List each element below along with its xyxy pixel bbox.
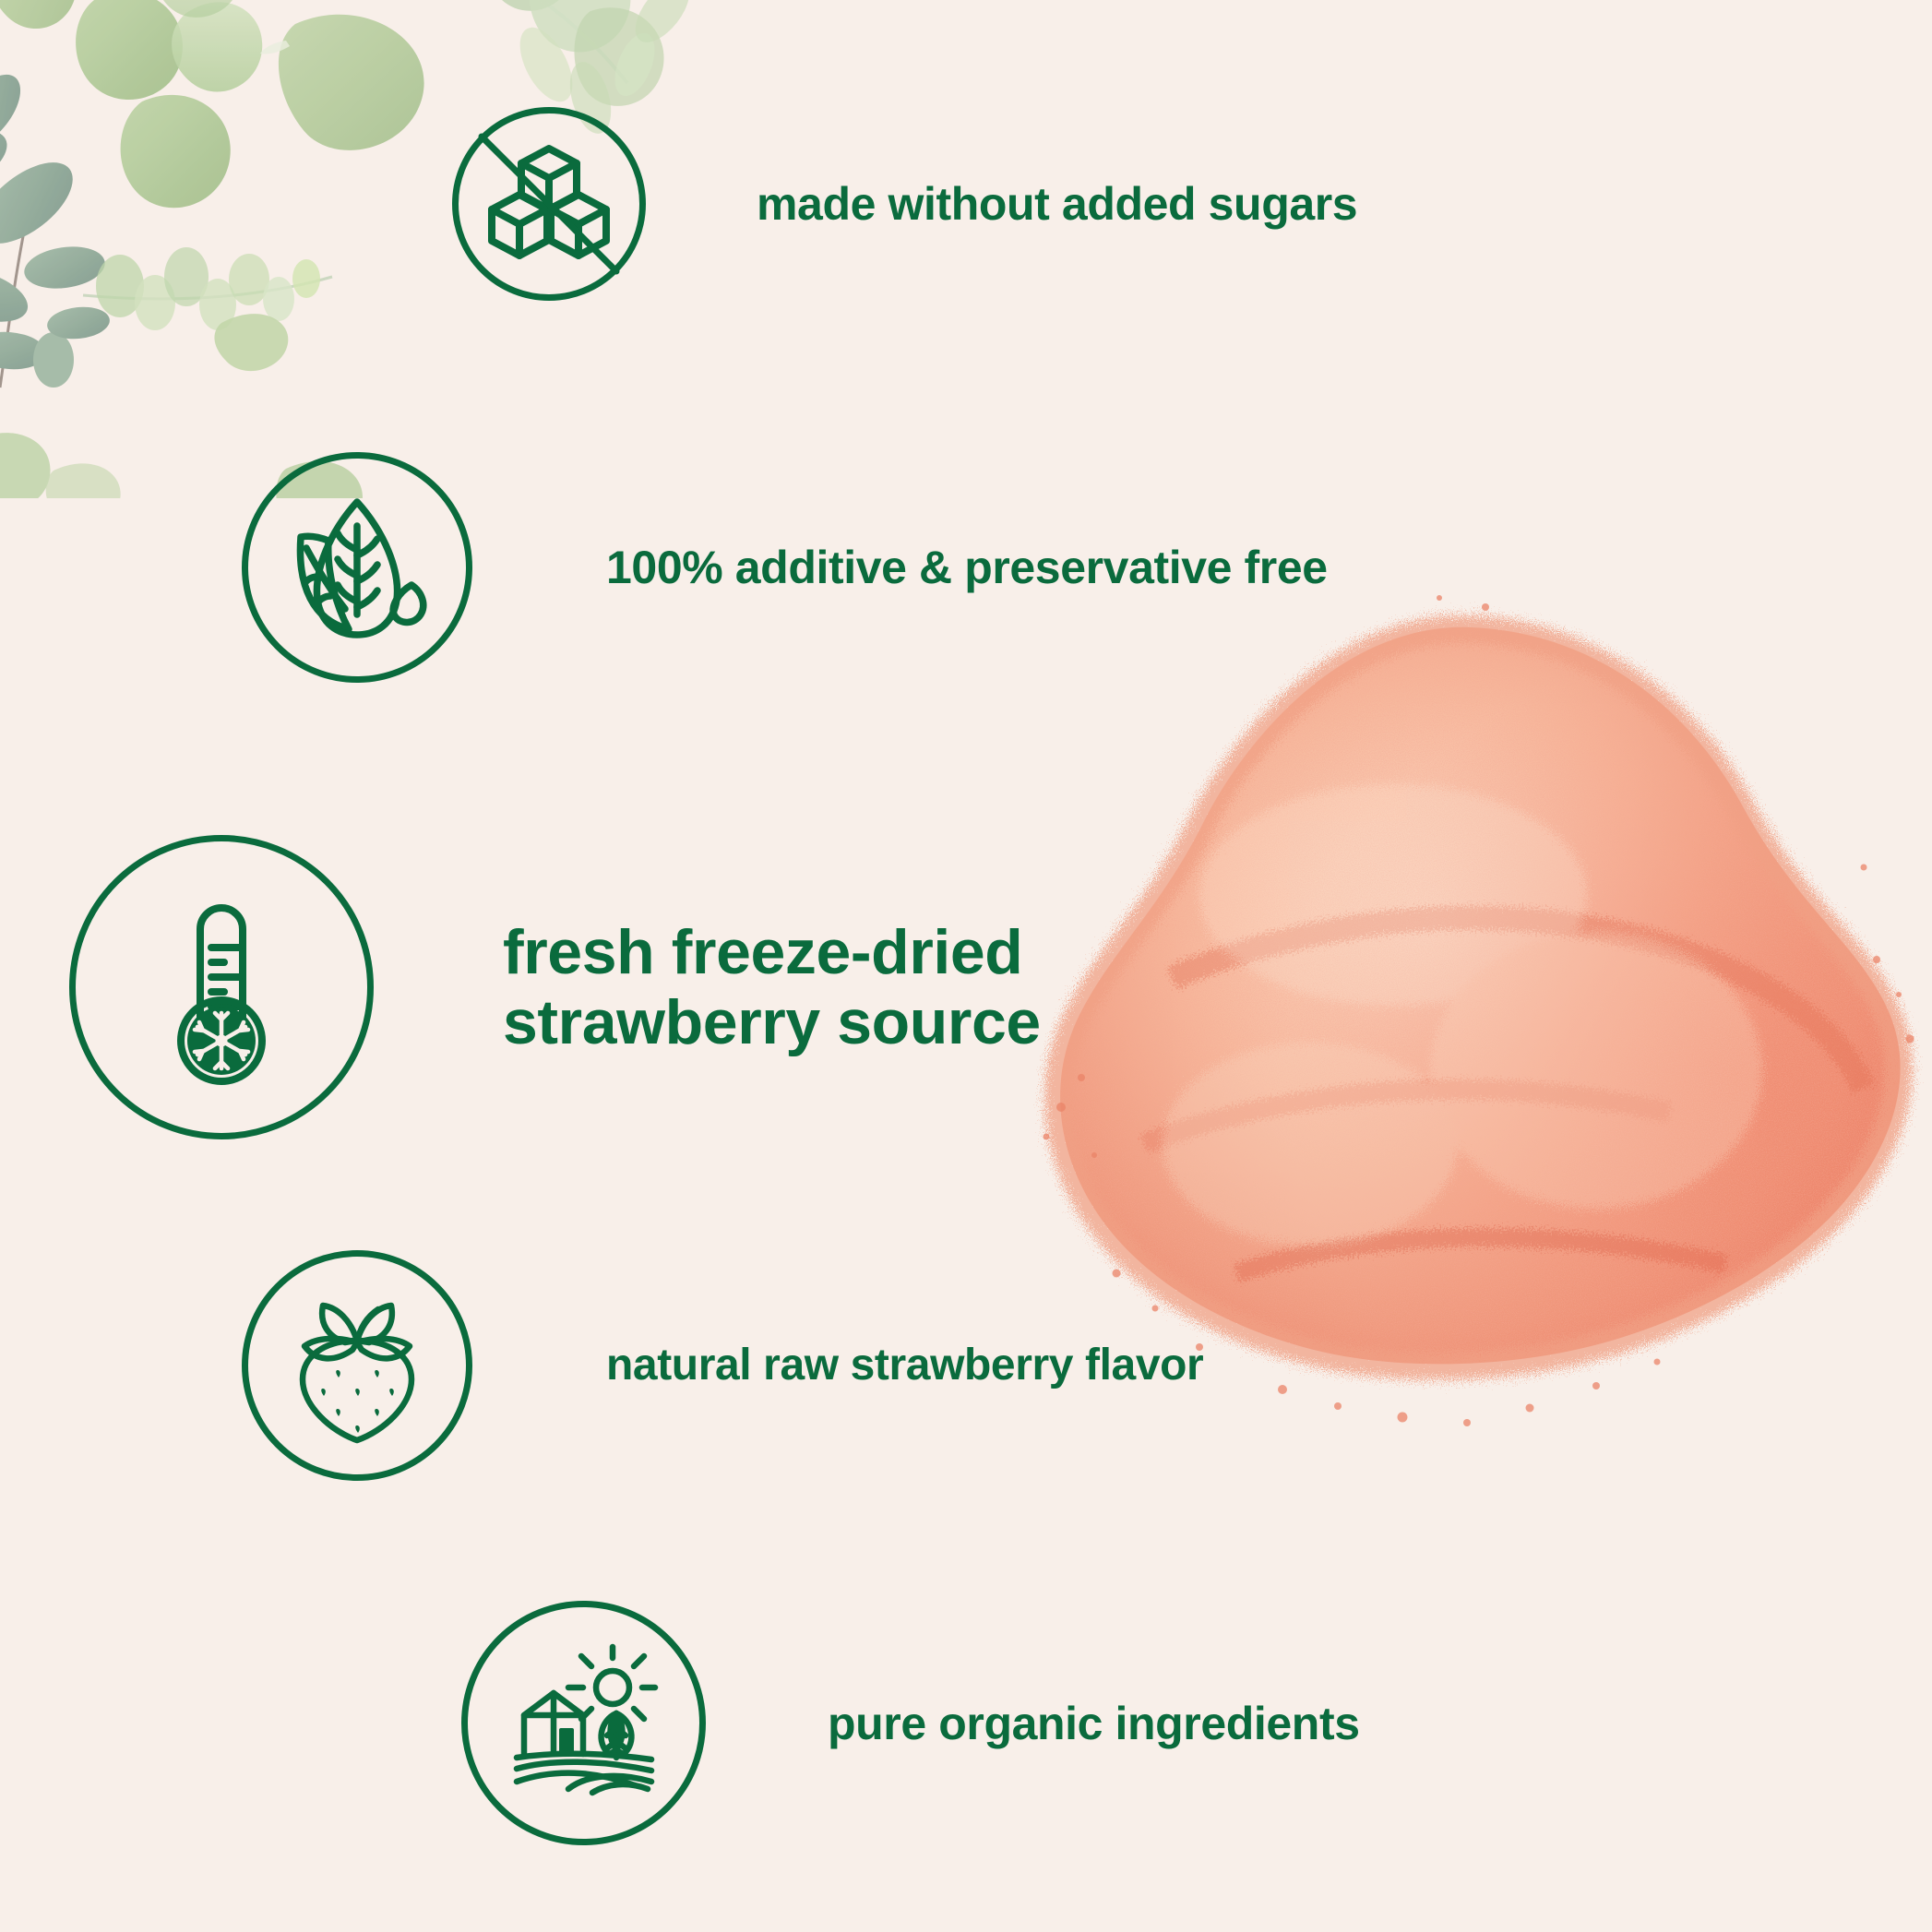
no-sugar-cubes-icon — [452, 107, 646, 301]
feature-label: 100% additive & preservative free — [606, 542, 1328, 593]
feature-row-freeze-dried: fresh freeze-dried strawberry source — [69, 835, 1041, 1139]
feature-label: fresh freeze-dried strawberry source — [503, 917, 1041, 1057]
feature-row-additive-free: 100% additive & preservative free — [242, 452, 1328, 683]
feature-label: natural raw strawberry flavor — [606, 1341, 1203, 1390]
leaves-icon — [242, 452, 472, 683]
farm-sun-icon — [461, 1601, 706, 1845]
thermometer-snowflake-icon — [69, 835, 374, 1139]
product-feature-graphic: made without added sugars — [0, 0, 1932, 1932]
feature-row-organic-ingredients: pure organic ingredients — [461, 1601, 1360, 1845]
feature-row-natural-flavor: natural raw strawberry flavor — [242, 1250, 1203, 1481]
strawberry-icon — [242, 1250, 472, 1481]
feature-row-no-added-sugars: made without added sugars — [452, 107, 1357, 301]
feature-label: made without added sugars — [757, 178, 1357, 230]
feature-label: pure organic ingredients — [828, 1698, 1360, 1749]
